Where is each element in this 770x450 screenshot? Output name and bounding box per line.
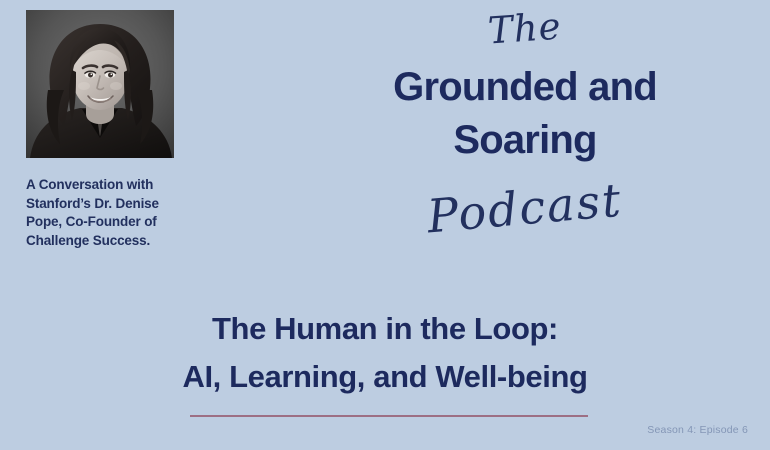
episode-title-line-2: AI, Learning, and Well-being [60,353,710,401]
guest-caption-line-4: Challenge Success. [26,232,216,251]
podcast-episode-cover: A Conversation with Stanford’s Dr. Denis… [0,0,770,450]
guest-caption-line-3: Pope, Co-Founder of [26,213,216,232]
show-title-line-2: Soaring [375,114,675,167]
brand-podcast-wrapper: Podcast [375,167,675,231]
brand-the-wrapper: The [375,6,675,47]
brand-the-script: The [487,7,563,49]
season-episode-label: Season 4: Episode 6 [647,424,748,436]
guest-caption-line-2: Stanford’s Dr. Denise [26,195,216,214]
episode-title-line-1: The Human in the Loop: [60,305,710,353]
title-divider-rule [190,415,588,417]
brand-podcast-script: Podcast [426,177,625,240]
guest-caption: A Conversation with Stanford’s Dr. Denis… [26,176,216,250]
guest-caption-line-1: A Conversation with [26,176,216,195]
episode-title: The Human in the Loop: AI, Learning, and… [60,305,710,401]
show-title: Grounded and Soaring [375,61,675,167]
show-branding: The Grounded and Soaring Podcast [375,6,675,231]
guest-headshot-photo [26,10,174,158]
headshot-illustration [26,10,174,158]
show-title-line-1: Grounded and [375,61,675,114]
